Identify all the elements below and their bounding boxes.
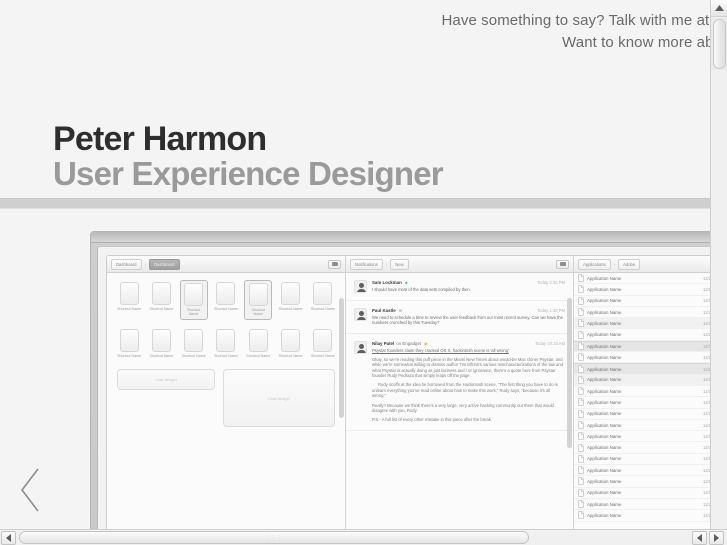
application-date: 12/28/2009 12:00 PM — [703, 377, 710, 382]
intro-line-1: Have something to say? Talk with me at p — [10, 10, 710, 31]
dashboard-content: Shortcut NameShortcut NameShortcut NameS… — [107, 273, 345, 529]
table-row[interactable]: Application Name12/28/2009 12:00 PM — [574, 499, 710, 510]
file-icon — [578, 331, 584, 339]
application-date: 12/28/2009 12:00 PM — [703, 355, 710, 360]
shortcut-item[interactable]: Shortcut Name — [309, 327, 337, 360]
scroll-left-button[interactable] — [1, 531, 16, 545]
application-name: Application Name — [587, 490, 621, 495]
file-icon — [578, 342, 584, 350]
notification-item[interactable]: Paul Kastle✉Today 1:43 PMWe need to sche… — [346, 301, 573, 334]
dashboard-widget[interactable]: Chat Widget — [117, 369, 215, 390]
file-icon — [578, 398, 584, 406]
table-row[interactable]: Application Name12/28/2009 12:00 PM — [574, 341, 710, 352]
application-name: Application Name — [587, 367, 621, 372]
file-icon — [578, 365, 584, 373]
intro-line-2: Want to know more abo — [10, 32, 710, 53]
shortcut-tile-icon — [249, 329, 268, 352]
applications-toolbar: Applications › Adobe — [574, 256, 710, 273]
application-date: 12/28/2009 12:00 PM — [703, 367, 710, 372]
compose-icon — [560, 262, 566, 266]
intro-text: Have something to say? Talk with me at p… — [10, 10, 710, 53]
notification-paragraph: Really? Because we think there's a very … — [372, 403, 565, 414]
notification-timestamp: Today 2:35 PM — [537, 280, 565, 285]
notification-timestamp: Today 1:43 PM — [537, 308, 565, 313]
vertical-scroll-thumb[interactable] — [713, 19, 726, 69]
application-name: Application Name — [587, 456, 621, 461]
page-title: Peter Harmon User Experience Designer — [53, 120, 443, 192]
shortcut-label: Shortcut Name — [182, 354, 206, 358]
window-horizontal-scrollbar[interactable]: ⋮⋮⋮ — [0, 529, 727, 545]
table-row[interactable]: Application Name12/28/2009 12:00 PM — [574, 273, 710, 284]
file-icon — [578, 308, 584, 316]
dashboard-crumb-1[interactable]: Dashboard — [111, 259, 142, 270]
applications-panel: Applications › Adobe Application Name12/… — [574, 256, 710, 529]
application-name: Application Name — [587, 377, 621, 382]
notifications-list: Sam Lockman◆Today 2:35 PMI should have m… — [346, 273, 573, 431]
application-date: 12/28/2009 12:00 PM — [703, 332, 710, 337]
notification-body: Nilay Patelon Engadget◉Today 10:15 AMPsy… — [372, 341, 565, 423]
table-row[interactable]: Application Name12/28/2009 12:00 PM — [574, 318, 710, 329]
rss-badge-icon: ◉ — [424, 341, 428, 346]
file-icon — [578, 285, 584, 293]
application-name: Application Name — [587, 321, 621, 326]
compose-button[interactable] — [556, 260, 569, 269]
file-icon — [578, 319, 584, 327]
application-name: Application Name — [587, 479, 621, 484]
file-icon — [578, 466, 584, 474]
shortcut-label: Shortcut Name — [279, 354, 303, 358]
file-icon — [578, 489, 584, 497]
table-row[interactable]: Application Name12/28/2009 12:00 PM — [574, 510, 710, 521]
notification-author: Sam Lockman — [372, 280, 402, 285]
mockup-body: Dashboard › Dashboard Shortcut NameShort… — [97, 246, 710, 529]
shortcut-label: Shortcut Name — [117, 354, 141, 358]
twitter-badge-icon: ◆ — [405, 280, 408, 285]
table-row[interactable]: Application Name12/28/2009 12:00 PM — [574, 296, 710, 307]
file-icon — [578, 455, 584, 463]
applications-list: Application Name12/28/2009 12:00 PMAppli… — [574, 273, 710, 522]
table-row[interactable]: Application Name12/28/2009 12:00 PM — [574, 431, 710, 442]
notification-author: Paul Kastle — [372, 308, 396, 313]
application-date: 12/28/2009 12:00 PM — [703, 423, 710, 428]
shortcut-item[interactable]: Shortcut Name — [212, 327, 240, 360]
person-role: User Experience Designer — [53, 156, 443, 192]
application-name: Application Name — [587, 332, 621, 337]
dashboard-scrollbar[interactable] — [339, 292, 344, 529]
application-name: Application Name — [587, 513, 621, 518]
application-name: Application Name — [587, 502, 621, 507]
dashboard-panel: Dashboard › Dashboard Shortcut NameShort… — [107, 256, 346, 529]
grey-badge-icon: ✉ — [399, 308, 402, 313]
shortcut-item[interactable]: Shortcut Name — [180, 280, 208, 320]
view-toggle-icon — [332, 262, 338, 266]
window-vertical-scrollbar[interactable] — [710, 0, 727, 529]
notification-paragraph: Okay, so we're reading this puff piece i… — [372, 357, 565, 379]
table-row[interactable]: Application Name12/28/2009 12:00 PM — [574, 409, 710, 420]
shortcut-tile-icon — [152, 282, 171, 305]
shortcut-tile-icon — [216, 329, 235, 352]
notifications-scrollbar-thumb[interactable] — [567, 298, 572, 448]
notification-body: Paul Kastle✉Today 1:43 PMWe need to sche… — [372, 308, 565, 326]
applications-crumb-1[interactable]: Applications — [578, 259, 611, 270]
application-date: 12/28/2009 12:00 PM — [703, 479, 710, 484]
application-date: 12/28/2009 12:00 PM — [703, 502, 710, 507]
table-row[interactable]: Application Name12/28/2009 12:00 PM — [574, 352, 710, 363]
notification-header: Nilay Patelon Engadget◉Today 10:15 AM — [372, 341, 565, 346]
shortcut-item[interactable]: Shortcut Name — [276, 327, 304, 360]
notification-body: Sam Lockman◆Today 2:35 PMI should have m… — [372, 280, 565, 293]
application-name: Application Name — [587, 344, 621, 349]
application-date: 12/28/2009 12:00 PM — [703, 321, 710, 326]
application-date: 12/28/2009 12:00 PM — [703, 344, 710, 349]
file-icon — [578, 511, 584, 519]
horizontal-scroll-thumb[interactable]: ⋮⋮⋮ — [19, 531, 529, 544]
file-icon — [578, 421, 584, 429]
file-icon — [578, 500, 584, 508]
shortcut-tile-icon — [216, 282, 235, 305]
avatar — [354, 280, 367, 293]
application-date: 12/28/2009 12:00 PM — [703, 456, 710, 461]
application-name: Application Name — [587, 445, 621, 450]
notification-text: I should have most of the data sets comp… — [372, 287, 565, 292]
shortcut-tile-icon — [281, 329, 300, 352]
shortcut-label: Shortcut Name — [279, 307, 303, 311]
application-name: Application Name — [587, 298, 621, 303]
notifications-crumb-2[interactable]: New — [390, 259, 408, 270]
application-name: Application Name — [587, 287, 621, 292]
table-row[interactable]: Application Name12/28/2009 12:00 PM — [574, 476, 710, 487]
application-date: 12/28/2009 12:00 PM — [703, 513, 710, 518]
shortcut-label: Shortcut Name — [149, 307, 173, 311]
notification-link[interactable]: Psystar founders claim they cracked OS X… — [372, 348, 565, 353]
applications-content: Application Name12/28/2009 12:00 PMAppli… — [574, 273, 710, 529]
section-divider — [0, 198, 710, 209]
mockup-panels: Dashboard › Dashboard Shortcut NameShort… — [106, 255, 710, 529]
application-name: Application Name — [587, 411, 621, 416]
shortcut-label: Shortcut Name — [214, 354, 238, 358]
notification-author: Nilay Patel — [372, 341, 394, 346]
shortcut-label: Shortcut Name — [214, 307, 238, 311]
application-date: 12/28/2009 12:00 PM — [703, 490, 710, 495]
notification-paragraph: P.S.- A full list of every other mistake… — [372, 417, 565, 422]
mockup-titlebar — [91, 232, 710, 243]
scroll-right-button[interactable] — [709, 531, 724, 545]
notification-item[interactable]: Sam Lockman◆Today 2:35 PMI should have m… — [346, 273, 573, 301]
dashboard-scrollbar-thumb[interactable] — [339, 298, 344, 418]
scroll-left-button-2[interactable] — [692, 531, 707, 545]
application-date: 12/28/2009 12:00 PM — [703, 468, 710, 473]
dashboard-toolbar: Dashboard › Dashboard — [107, 256, 345, 273]
application-date: 12/28/2009 12:00 PM — [703, 411, 710, 416]
notifications-content: Sam Lockman◆Today 2:35 PMI should have m… — [346, 273, 573, 529]
shortcut-item[interactable]: Shortcut Name — [115, 280, 143, 320]
application-name: Application Name — [587, 389, 621, 394]
shortcut-item[interactable]: Shortcut Name — [147, 327, 175, 360]
table-row[interactable]: Application Name12/28/2009 12:00 PM — [574, 363, 710, 374]
shortcut-tile-icon — [281, 282, 300, 305]
shortcut-label: Shortcut Name — [311, 354, 335, 358]
application-name: Application Name — [587, 400, 621, 405]
application-name: Application Name — [587, 434, 621, 439]
scroll-up-button[interactable] — [711, 0, 727, 17]
file-icon — [578, 410, 584, 418]
file-icon — [578, 297, 584, 305]
file-icon — [578, 387, 584, 395]
page-viewport: Have something to say? Talk with me at p… — [0, 0, 710, 529]
shortcut-grid: Shortcut NameShortcut NameShortcut NameS… — [107, 273, 345, 360]
widget-row: Chat WidgetChat Widget — [107, 360, 345, 427]
table-row[interactable]: Application Name12/28/2009 12:00 PM — [574, 386, 710, 397]
dashboard-crumb-2[interactable]: Dashboard — [149, 259, 180, 270]
notification-header: Paul Kastle✉Today 1:43 PM — [372, 308, 565, 313]
table-row[interactable]: Application Name12/28/2009 12:00 PM — [574, 284, 710, 295]
application-date: 12/28/2009 12:00 PM — [703, 287, 710, 292]
table-row[interactable]: Application Name12/28/2009 12:00 PM — [574, 488, 710, 499]
applications-crumb-2[interactable]: Adobe — [618, 259, 640, 270]
scroll-thumb-grip-icon: ⋮⋮⋮ — [265, 535, 283, 541]
shortcut-tile-icon — [313, 329, 332, 352]
table-row[interactable]: Application Name12/28/2009 12:00 PM — [574, 397, 710, 408]
shortcut-item[interactable]: Shortcut Name — [244, 327, 272, 360]
shortcut-item[interactable]: Shortcut Name — [115, 327, 143, 360]
shortcut-label: Shortcut Name — [247, 308, 269, 317]
notification-timestamp: Today 10:15 AM — [535, 341, 565, 346]
shortcut-tile-icon — [120, 329, 139, 352]
notifications-crumb-1[interactable]: Notifications — [350, 259, 383, 270]
file-icon — [578, 432, 584, 440]
shortcut-item[interactable]: Shortcut Name — [276, 280, 304, 320]
breadcrumb-separator-icon: › — [386, 262, 388, 267]
shortcut-tile-icon — [313, 282, 332, 305]
prev-arrow-icon[interactable] — [18, 465, 44, 515]
table-row[interactable]: Application Name12/28/2009 12:00 PM — [574, 454, 710, 465]
table-row[interactable]: Application Name12/28/2009 12:00 PM — [574, 375, 710, 386]
notifications-panel: Notifications › New Sam Lockman◆Today 2:… — [346, 256, 574, 529]
application-date: 12/28/2009 12:00 PM — [703, 276, 710, 281]
shortcut-tile-icon — [120, 282, 139, 305]
application-date: 12/28/2009 12:00 PM — [703, 445, 710, 450]
notification-source: on Engadget — [396, 341, 421, 346]
avatar — [354, 341, 367, 354]
application-date: 12/28/2009 12:00 PM — [703, 389, 710, 394]
shortcut-tile-icon — [184, 329, 203, 352]
breadcrumb-separator-icon: › — [145, 262, 147, 267]
file-icon — [578, 274, 584, 282]
application-date: 12/28/2009 12:00 PM — [703, 400, 710, 405]
notifications-toolbar: Notifications › New — [346, 256, 573, 273]
table-row[interactable]: Application Name12/28/2009 12:00 PM — [574, 307, 710, 318]
application-name: Application Name — [587, 468, 621, 473]
table-row[interactable]: Application Name12/28/2009 12:00 PM — [574, 442, 710, 453]
shortcut-label: Shortcut Name — [311, 307, 335, 311]
shortcut-label: Shortcut Name — [183, 308, 205, 317]
shortcut-label: Shortcut Name — [117, 307, 141, 311]
application-date: 12/28/2009 12:00 PM — [703, 310, 710, 315]
shortcut-item[interactable]: Shortcut Name — [147, 280, 175, 320]
shortcut-tile-icon — [249, 283, 268, 306]
shortcut-item[interactable]: Shortcut Name — [180, 327, 208, 360]
table-row[interactable]: Application Name12/28/2009 12:00 PM — [574, 329, 710, 340]
notification-text: We need to schedule a time to review the… — [372, 315, 565, 326]
mockup-window: Dashboard › Dashboard Shortcut NameShort… — [90, 231, 710, 529]
dashboard-widget[interactable]: Chat Widget — [223, 369, 335, 427]
notifications-scrollbar[interactable] — [567, 292, 572, 529]
dashboard-view-toggle-button[interactable] — [328, 260, 341, 269]
file-icon — [578, 353, 584, 361]
horizontal-scroll-arrows[interactable] — [691, 531, 725, 545]
application-name: Application Name — [587, 276, 621, 281]
file-icon — [578, 477, 584, 485]
shortcut-label: Shortcut Name — [246, 354, 270, 358]
notification-paragraph: Rudy scoffs at the idea he borrowed from… — [372, 382, 565, 398]
shortcut-label: Shortcut Name — [149, 354, 173, 358]
table-row[interactable]: Application Name12/28/2009 12:00 PM — [574, 420, 710, 431]
file-icon — [578, 376, 584, 384]
application-name: Application Name — [587, 423, 621, 428]
shortcut-tile-icon — [184, 283, 203, 306]
shortcut-item[interactable]: Shortcut Name — [212, 280, 240, 320]
avatar — [354, 308, 367, 321]
application-date: 12/28/2009 12:00 PM — [703, 434, 710, 439]
portfolio-page: Have something to say? Talk with me at p… — [0, 0, 727, 545]
breadcrumb-separator-icon: › — [614, 262, 616, 267]
file-icon — [578, 444, 584, 452]
application-name: Application Name — [587, 355, 621, 360]
person-name: Peter Harmon — [53, 120, 443, 158]
application-name: Application Name — [587, 310, 621, 315]
shortcut-item[interactable]: Shortcut Name — [309, 280, 337, 320]
application-date: 12/28/2009 12:00 PM — [703, 298, 710, 303]
table-row[interactable]: Application Name12/28/2009 12:00 PM — [574, 465, 710, 476]
shortcut-item[interactable]: Shortcut Name — [244, 280, 272, 320]
notification-item[interactable]: Nilay Patelon Engadget◉Today 10:15 AMPsy… — [346, 334, 573, 431]
notification-header: Sam Lockman◆Today 2:35 PM — [372, 280, 565, 285]
shortcut-tile-icon — [152, 329, 171, 352]
